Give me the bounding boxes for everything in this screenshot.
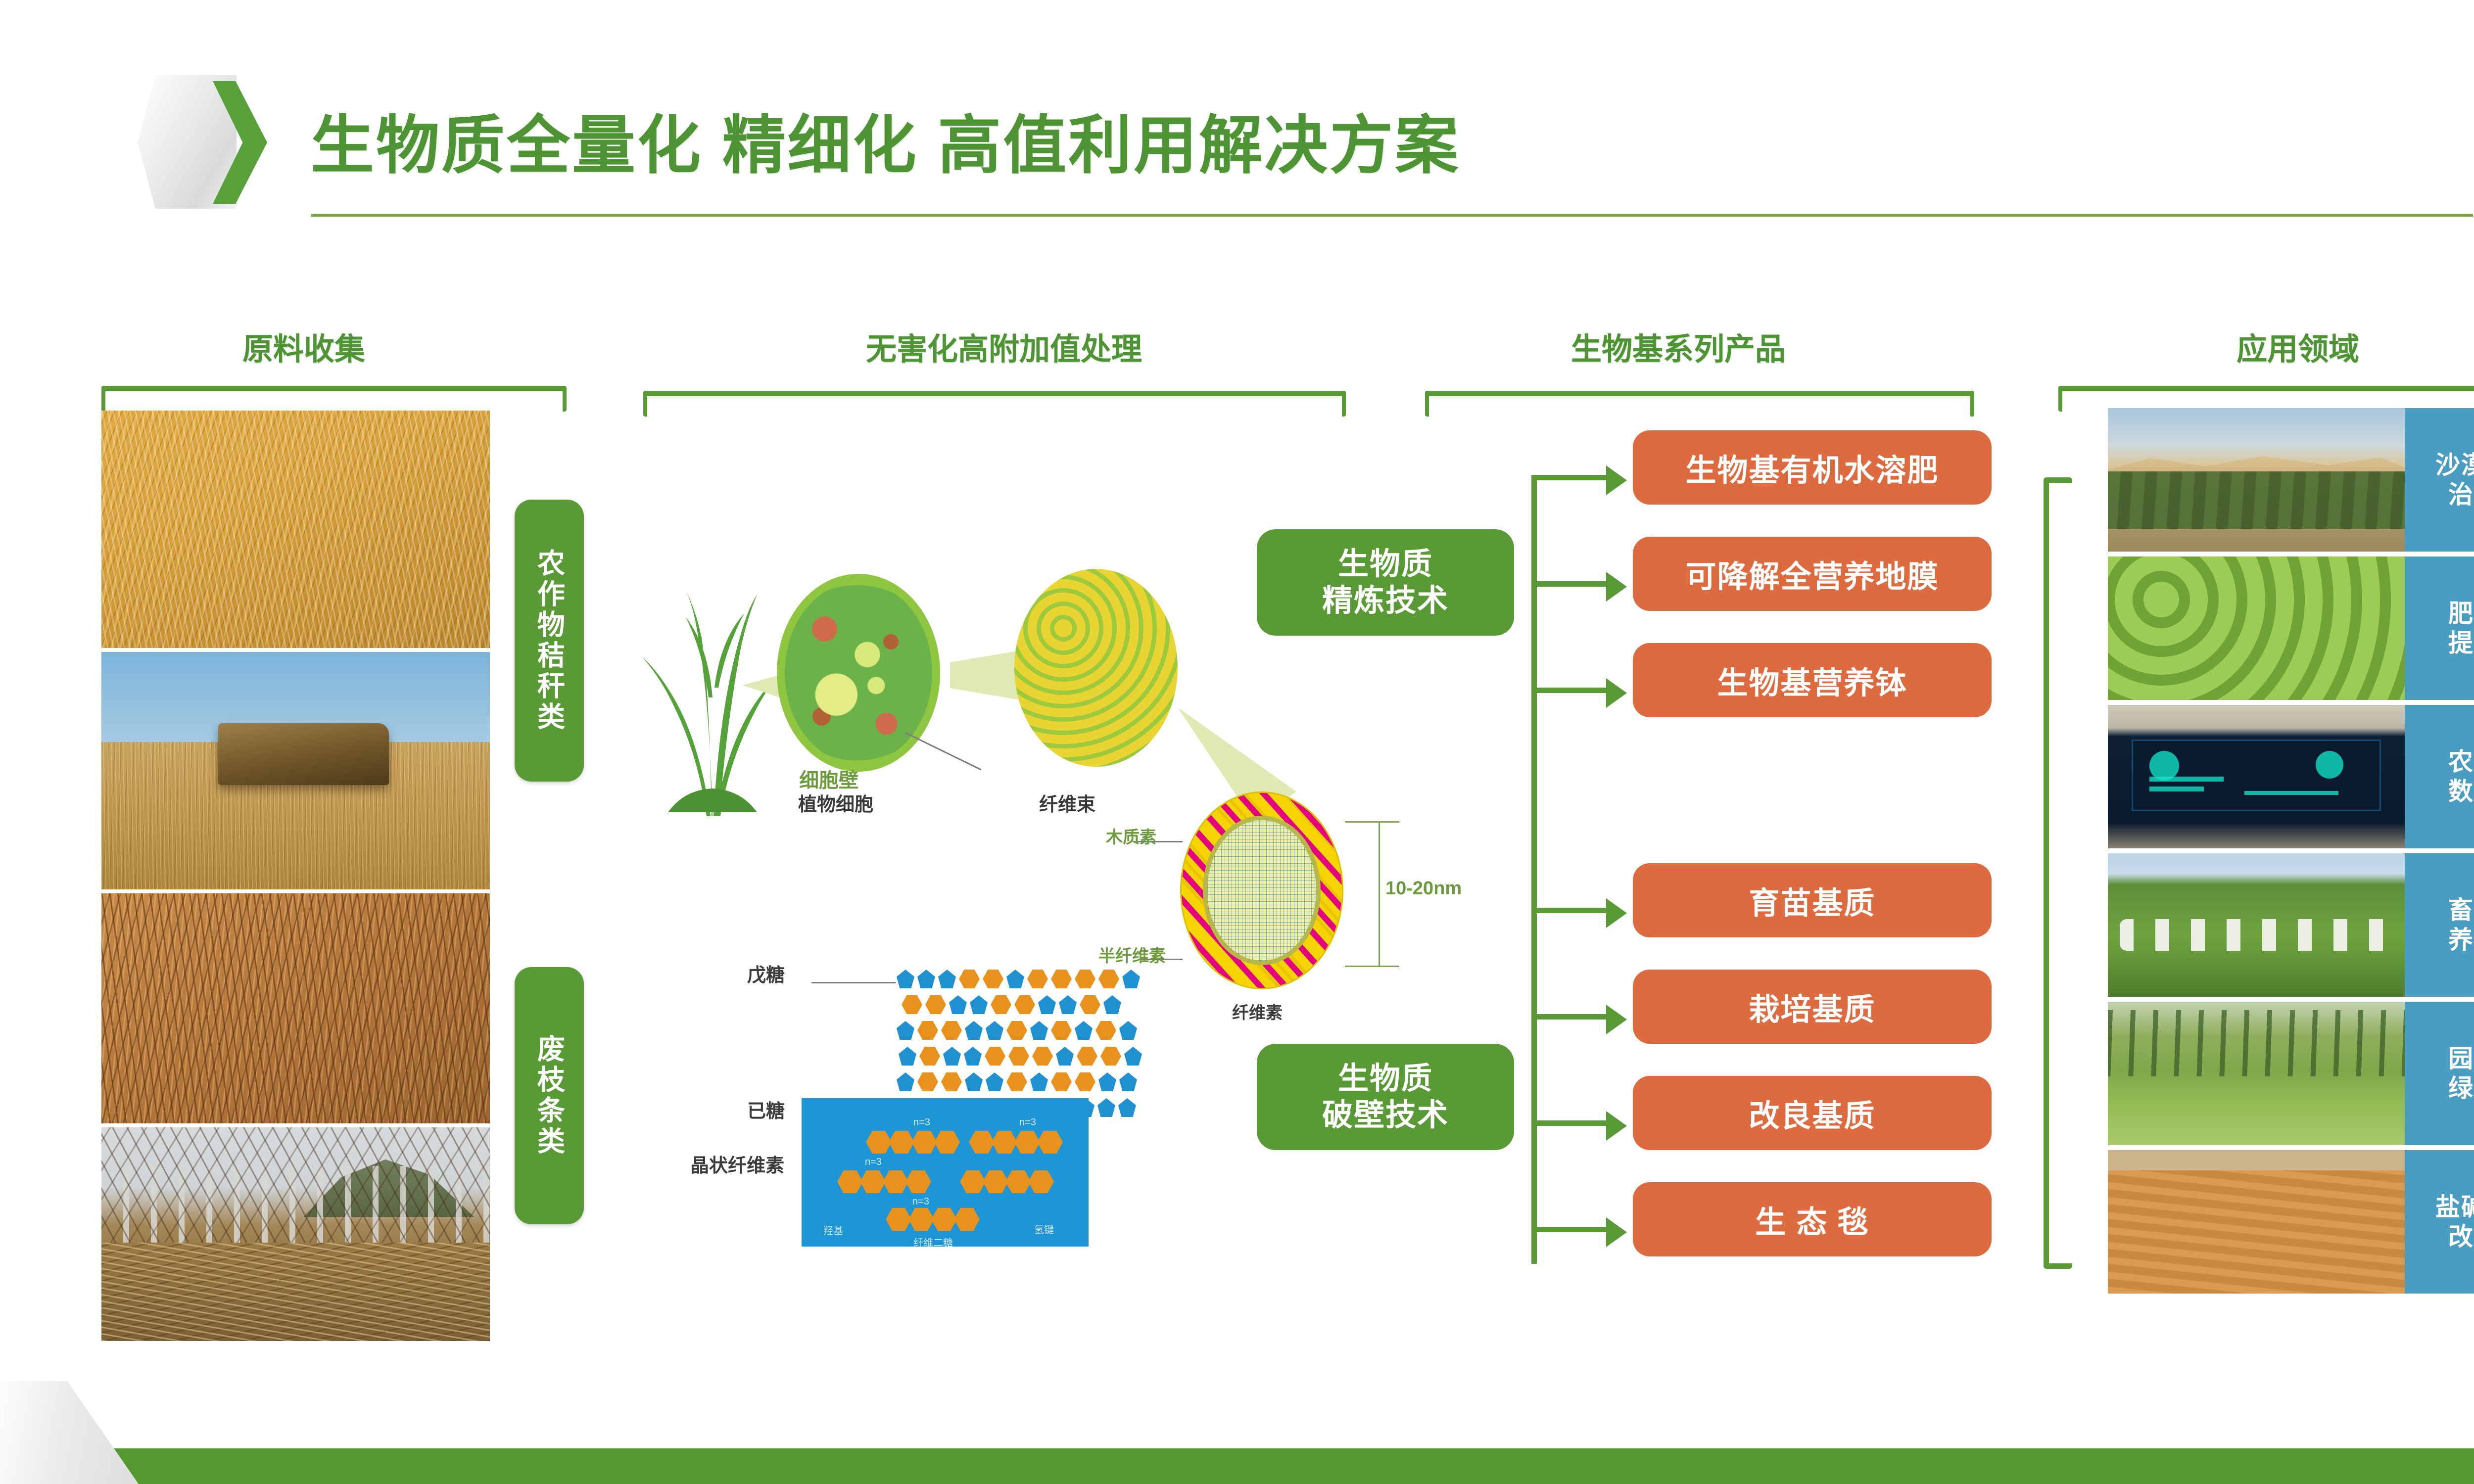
dimension-line [1379,821,1380,967]
hexagon-badge-icon [138,75,261,209]
connector-branch-refining-2 [1531,581,1608,587]
material-group-label-crop-straw: 农作物秸秆类 [515,500,584,782]
app-label-2-line1: 肥力 [2448,599,2474,628]
footer-bar [74,1448,2474,1484]
label-hemicellulose: 半纤维素 [1098,942,1166,967]
product-pill-degradable-nutrient-mulch-film[interactable]: 可降解全营养地膜 [1633,537,1992,611]
tech-breaking-line1: 生物质 [1338,1061,1433,1097]
crystal-note-hydroxyl: 羟基 [823,1223,843,1237]
bracket-products-to-applications [2044,477,2072,1269]
page-title: 生物质全量化 精细化 高值利用解决方案 [311,94,1460,185]
app-label-1-line2: 治理 [2448,480,2474,510]
crystal-note-4: n=3 [912,1196,929,1207]
app-label-4-line2: 养殖 [2448,925,2474,955]
application-tag-fertility-improvement[interactable]: 肥力 提升 [2405,556,2474,700]
cellulose-cross-section-illustration [1180,791,1343,989]
photo-agriculture-data-control-room [2108,705,2405,848]
arrow-refining-3-icon [1606,678,1627,708]
product-pill-ecological-blanket[interactable]: 生 态 毯 [1633,1182,1992,1256]
label-cellulose: 纤维素 [1232,999,1283,1023]
application-tag-agriculture-data[interactable]: 农业 数据 [2405,705,2474,848]
app-label-2-line2: 提升 [2448,628,2474,658]
dimension-tick-bottom [1345,966,1399,967]
tech-breaking-line2: 破壁技术 [1322,1097,1449,1133]
product-pill-cultivation-substrate[interactable]: 栽培基质 [1633,970,1992,1044]
connector-trunk-breaking [1531,908,1537,1264]
label-pentose: 戊糖 [747,960,785,987]
infographic-page: 生物质全量化 精细化 高值利用解决方案 原料收集 无害化高附加值处理 生物基系列… [0,0,2474,1484]
crystalline-cellulose-illustration: n=3 n=3 n=3 n=3 纤维二糖 羟基 氢键 [802,1098,1089,1247]
bracket-raw-material [101,386,567,412]
section-label-raw-material: 原料收集 [242,324,365,369]
dimension-tick-top [1345,821,1399,823]
label-plant-cell: 植物细胞 [798,789,873,816]
arrow-breaking-1-icon [1606,898,1627,928]
crystal-note-1: n=3 [913,1117,930,1128]
crystal-note-3: n=3 [865,1157,882,1168]
connector-branch-refining-3 [1531,688,1608,693]
plant-cell-illustration [777,574,940,772]
photo-saline-alkali-land [2108,1150,2405,1294]
photo-dry-pruned-branches [101,893,490,1123]
tech-pill-biomass-refining[interactable]: 生物质 精炼技术 [1257,529,1514,636]
application-tag-livestock-breeding[interactable]: 畜牧 养殖 [2405,853,2474,997]
photo-straw-bale-stubble-field [101,652,490,889]
app-label-5-line1: 园林 [2448,1044,2474,1073]
crystal-note-hydrogen-bond: 氢键 [1034,1222,1054,1236]
title-underline-rule [311,214,2473,217]
label-fiber-bundle: 纤维束 [1039,789,1095,816]
material-group-label-waste-branches: 废枝条类 [515,967,584,1224]
label-hexose: 已糖 [747,1096,785,1123]
photo-cabbage-field [2108,556,2405,700]
connector-branch-breaking-1 [1531,908,1608,913]
arrow-breaking-2-icon [1606,1005,1627,1034]
app-label-4-line1: 畜牧 [2448,895,2474,925]
connector-trunk-refining [1531,475,1537,970]
app-label-6-line1: 盐碱地 [2435,1192,2474,1222]
product-pill-biobased-nutrition-pot[interactable]: 生物基营养钵 [1633,643,1992,717]
bracket-processing [643,391,1346,417]
product-pill-seedling-substrate[interactable]: 育苗基质 [1633,863,1992,937]
app-label-3-line1: 农业 [2448,747,2474,777]
arrow-refining-1-icon [1606,465,1627,495]
photo-corn-stover-field [101,411,490,648]
photo-sheep-grazing-pasture [2108,853,2405,997]
bracket-products [1425,391,1974,417]
plant-grass-icon [638,539,787,816]
arrow-breaking-3-icon [1606,1111,1627,1141]
footer-wedge-shape [0,1381,139,1484]
application-tag-desertification-control[interactable]: 沙漠化 治理 [2405,408,2474,552]
label-fiber-dimension: 10-20nm [1385,878,1462,899]
app-label-6-line2: 改良 [2448,1222,2474,1252]
section-label-applications: 应用领域 [2236,324,2359,369]
tech-refining-line1: 生物质 [1338,546,1433,582]
photo-landscaped-park-lawn [2108,1002,2405,1145]
photo-desert-restoration-site [2108,408,2405,552]
product-pill-improvement-substrate[interactable]: 改良基质 [1633,1076,1992,1150]
cell-wall-leader-line [905,732,981,770]
connector-branch-breaking-2 [1531,1014,1608,1020]
app-label-5-line2: 绿化 [2448,1073,2474,1103]
connector-branch-breaking-4 [1531,1227,1608,1232]
section-label-processing: 无害化高附加值处理 [866,324,1142,369]
tech-refining-line2: 精炼技术 [1322,583,1449,619]
application-tag-saline-alkali-improvement[interactable]: 盐碱地 改良 [2405,1150,2474,1294]
app-label-1-line1: 沙漠化 [2435,450,2474,480]
app-label-3-line2: 数据 [2448,777,2474,806]
pentose-leader-line [811,982,896,983]
label-lignin: 木质素 [1106,824,1156,848]
tech-pill-cell-wall-breaking[interactable]: 生物质 破壁技术 [1257,1044,1514,1150]
connector-branch-refining-1 [1531,475,1608,480]
photo-orchard-pruning-collection [101,1127,490,1341]
fiber-bundle-illustration [1014,569,1178,767]
product-pill-organic-water-soluble-fertilizer[interactable]: 生物基有机水溶肥 [1633,430,1992,505]
arrow-refining-2-icon [1606,572,1627,602]
crystal-note-cellobiose: 纤维二糖 [913,1235,953,1249]
crystal-note-2: n=3 [1019,1117,1036,1128]
arrow-breaking-4-icon [1606,1217,1627,1247]
section-label-products: 生物基系列产品 [1571,324,1786,369]
label-crystalline-cellulose: 晶状纤维素 [690,1150,784,1177]
application-tag-landscape-greening[interactable]: 园林 绿化 [2405,1002,2474,1145]
connector-branch-breaking-3 [1531,1120,1608,1126]
